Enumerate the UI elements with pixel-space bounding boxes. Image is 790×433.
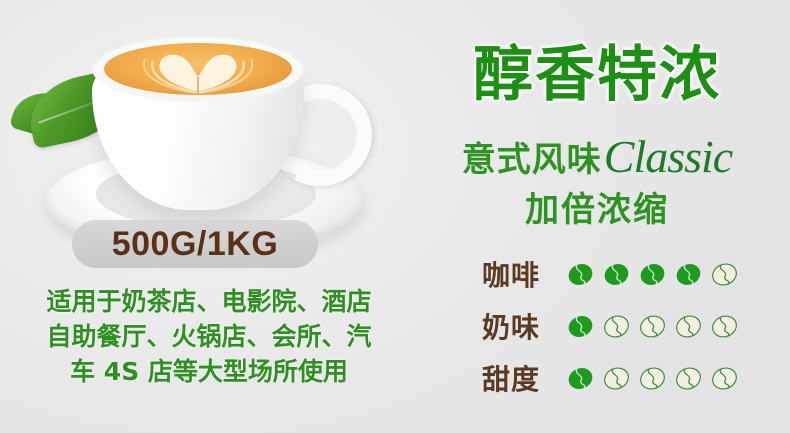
rating-label: 咖啡	[482, 254, 566, 294]
rating-label: 甜度	[482, 358, 566, 398]
coffee-bean-empty-icon	[638, 312, 667, 341]
rating-row: 甜度	[404, 352, 790, 404]
rating-list: 咖啡奶味甜度	[404, 248, 790, 404]
coffee-bean-filled-icon	[674, 260, 703, 289]
subtitle-script: Classic	[604, 131, 732, 182]
usage-description-line-3: 车 4S 店等大型场所使用	[12, 354, 406, 389]
rating-beans	[566, 312, 739, 341]
subtitle-line-2: 加倍浓缩	[404, 182, 790, 231]
usage-description-line-2: 自助餐厅、火锅店、会所、汽	[12, 319, 406, 354]
product-banner: 500G/1KG 适用于奶茶店、电影院、酒店 自助餐厅、火锅店、会所、汽 车 4…	[0, 0, 790, 433]
rating-row: 奶味	[404, 300, 790, 352]
coffee-bean-empty-icon	[674, 312, 703, 341]
usage-description-line-1: 适用于奶茶店、电影院、酒店	[12, 284, 406, 319]
coffee-bean-filled-icon	[566, 312, 595, 341]
headline: 醇香特浓	[404, 26, 790, 113]
subtitle-line-1: 意式风味Classic	[404, 130, 790, 183]
rating-label: 奶味	[482, 306, 566, 346]
coffee-bean-empty-icon	[710, 260, 739, 289]
rating-row: 咖啡	[404, 248, 790, 300]
coffee-bean-empty-icon	[710, 364, 739, 393]
latte-art-heart-icon	[104, 43, 292, 95]
coffee-bean-filled-icon	[602, 260, 631, 289]
coffee-bean-empty-icon	[674, 364, 703, 393]
coffee-bean-empty-icon	[602, 312, 631, 341]
coffee-bean-filled-icon	[566, 260, 595, 289]
coffee-bean-empty-icon	[638, 364, 667, 393]
weight-badge-label: 500G/1KG	[112, 225, 279, 264]
subtitle-chinese: 意式风味	[462, 140, 602, 180]
rating-beans	[566, 260, 739, 289]
coffee-bean-filled-icon	[566, 364, 595, 393]
weight-badge: 500G/1KG	[72, 220, 318, 268]
rating-beans	[566, 364, 739, 393]
crema-surface	[104, 43, 292, 95]
coffee-bean-empty-icon	[710, 312, 739, 341]
product-photo: 500G/1KG	[0, 0, 400, 290]
coffee-bean-empty-icon	[602, 364, 631, 393]
coffee-bean-filled-icon	[638, 260, 667, 289]
usage-description: 适用于奶茶店、电影院、酒店 自助餐厅、火锅店、会所、汽 车 4S 店等大型场所使…	[12, 284, 406, 389]
copy-panel: 醇香特浓 意式风味Classic 加倍浓缩 咖啡奶味甜度	[404, 0, 790, 433]
